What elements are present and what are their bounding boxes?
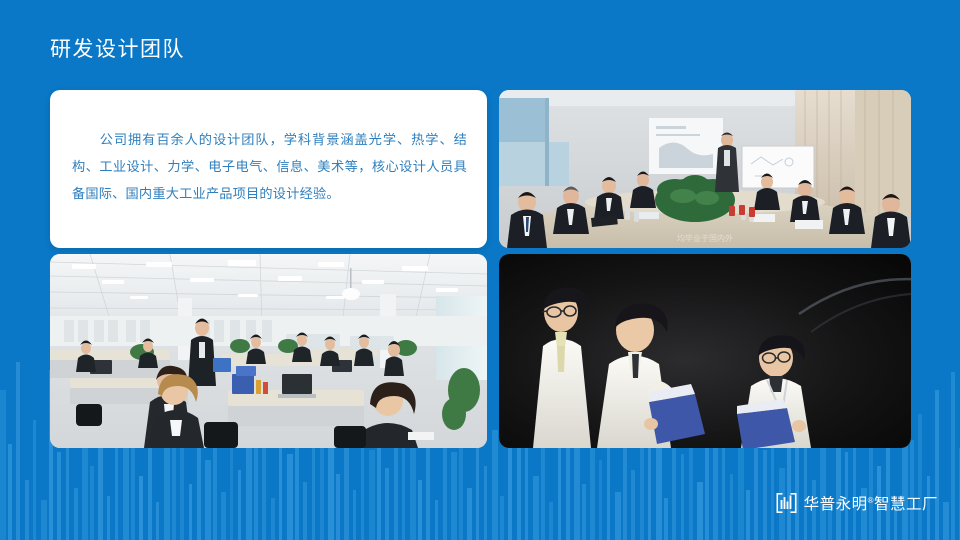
decorative-bar [139, 476, 142, 540]
decorative-bar [631, 470, 634, 540]
decorative-bar [910, 440, 914, 540]
decorative-bar [336, 474, 339, 540]
decorative-bar [123, 440, 129, 540]
decorative-bar [681, 454, 684, 540]
decorative-bar [697, 482, 703, 540]
decorative-bar [533, 476, 539, 540]
decorative-bar [90, 466, 93, 540]
footer-tagline: 智慧工厂 [874, 496, 938, 513]
footer-logo-wordmark: 华普永明®智慧工厂 [804, 492, 938, 514]
lab-team-photo [499, 254, 911, 448]
decorative-bar [566, 448, 570, 540]
decorative-bar [303, 482, 306, 540]
decorative-bar [8, 444, 11, 540]
decorative-bar [763, 450, 767, 540]
decorative-bar [344, 432, 348, 540]
decorative-bar [451, 452, 457, 540]
open-office-photo [50, 254, 487, 448]
decorative-bar [730, 474, 733, 540]
decorative-bar [353, 490, 356, 540]
decorative-bar [484, 466, 487, 540]
decorative-bar [918, 414, 921, 540]
decorative-bar [738, 432, 744, 540]
decorative-bar [492, 430, 498, 540]
decorative-bar [435, 500, 438, 540]
decorative-bar [500, 496, 503, 540]
decorative-bar [943, 502, 949, 540]
decorative-bar [549, 502, 552, 540]
decorative-bar [599, 460, 602, 540]
description-text: 公司拥有百余人的设计团队，学科背景涵盖光学、热学、结构、工业设计、力学、电子电气… [72, 126, 467, 207]
decorative-bar [57, 452, 60, 540]
decorative-bar [746, 490, 749, 540]
decorative-bar [238, 470, 241, 540]
decorative-bar [935, 390, 939, 540]
hpm-brand-mark-icon [776, 492, 797, 514]
decorative-bar [517, 440, 521, 540]
decorative-bar [418, 480, 422, 540]
decorative-bar [0, 390, 6, 540]
decorative-bar [74, 488, 78, 540]
decorative-bar [402, 444, 405, 540]
decorative-bar [287, 454, 293, 540]
decorative-bar [25, 480, 29, 540]
decorative-bar [16, 362, 19, 540]
decorative-bar [41, 500, 47, 540]
decorative-bar [205, 460, 211, 540]
decorative-bar [615, 492, 621, 540]
decorative-bar [369, 450, 375, 540]
meeting-room-photo: 均毕业于国内外 [499, 90, 911, 248]
footer-logo: 华普永明®智慧工厂 [776, 492, 938, 514]
decorative-bar [271, 498, 275, 540]
decorative-bar [156, 502, 159, 540]
decorative-bar [713, 442, 717, 540]
svg-text:均毕业于国内外: 均毕业于国内外 [677, 233, 733, 243]
lab-team-photo-image [499, 254, 911, 448]
decorative-bar [33, 420, 36, 540]
decorative-bar [664, 498, 668, 540]
decorative-bar [623, 436, 626, 540]
decorative-bar [221, 492, 225, 540]
decorative-bar [951, 372, 954, 540]
description-card: 公司拥有百余人的设计团队，学科背景涵盖光学、热学、结构、工业设计、力学、电子电气… [50, 90, 487, 248]
decorative-bar [582, 484, 585, 540]
decorative-bar [107, 496, 110, 540]
footer-brand-name: 华普永明 [804, 496, 868, 513]
open-office-photo-image [50, 254, 487, 448]
decorative-bar [320, 442, 324, 540]
decorative-bar [172, 448, 176, 540]
decorative-bar [467, 488, 471, 540]
decorative-bar [189, 484, 192, 540]
slide-root: 研发设计团队 公司拥有百余人的设计团队，学科背景涵盖光学、热学、结构、工业设计、… [0, 0, 960, 540]
decorative-bar [230, 436, 233, 540]
page-title: 研发设计团队 [50, 33, 185, 63]
meeting-room-photo-image: 均毕业于国内外 [499, 90, 911, 248]
decorative-bar [385, 468, 388, 540]
